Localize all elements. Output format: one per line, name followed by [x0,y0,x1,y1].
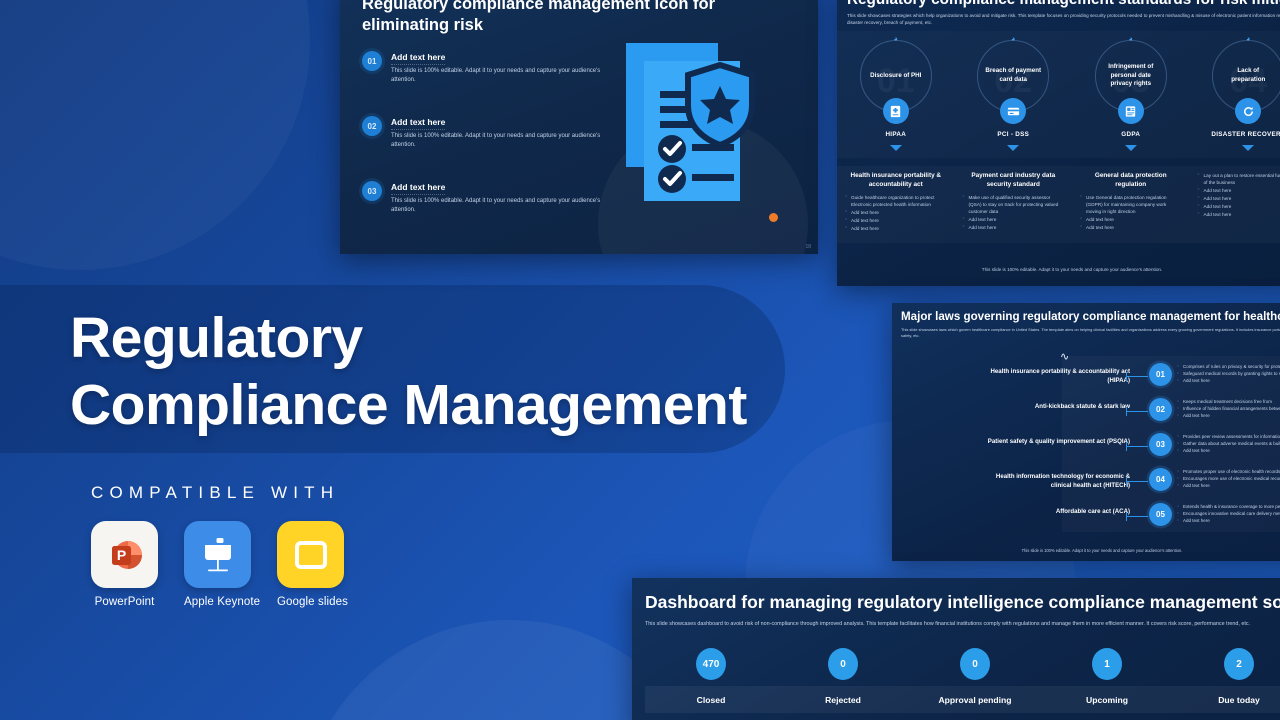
detail-bullets: Use General data protection regulation (… [1080,194,1182,231]
item-text: Add text here This slide is 100% editabl… [391,177,601,214]
slide-title: Dashboard for managing regulatory intell… [645,592,1280,613]
kpi-strip: 470 0 0 1 2 Closed Rejected Approval pen… [645,648,1280,713]
item-text: Add text here This slide is 100% editabl… [391,112,601,149]
slide-thumbnail-compliance-standards[interactable]: Regulatory compliance management standar… [837,0,1280,286]
standard-detail[interactable]: General data protection regulation Use G… [1072,166,1190,243]
slide-subtitle: This slide showcases dashboard to avoid … [645,620,1280,629]
standard-detail[interactable]: Lay out a plan to restore essential func… [1190,166,1280,243]
slide-thumbnail-compliance-icon[interactable]: Regulatory compliance management icon fo… [340,0,818,254]
table-row[interactable]: Patient safety & quality improvement act… [892,434,1280,469]
kpi-value: 470 [696,648,726,680]
law-bullets: Keeps medical treatment decisions free f… [1177,399,1280,419]
detail-bullets: Make use of qualified security assessor … [963,194,1065,231]
slide-title: Regulatory compliance management standar… [847,0,1280,9]
list-item[interactable]: 01 Add text here This slide is 100% edit… [362,47,602,112]
law-number-badge: 05 [1149,503,1172,526]
kpi-cell[interactable]: 0 [777,648,909,680]
slide-title: Regulatory compliance management icon fo… [362,0,762,37]
list-item[interactable]: 02 Add text here This slide is 100% edit… [362,112,602,177]
slide-page-number: 18 [805,244,811,250]
item-text: Add text here This slide is 100% editabl… [391,47,601,84]
bullet: Add text here [1080,224,1182,231]
page-title-line-2: Compliance Management [70,372,830,439]
law-label: Health information technology for econom… [980,473,1130,491]
slide-footnote: This slide is 100% editable. Adapt it to… [837,267,1280,272]
law-bullets: Extends health & insurance coverage to m… [1177,504,1280,524]
credit-card-icon [1000,98,1026,124]
law-bullets: Comprises of rules on privacy & security… [1177,364,1280,384]
page-title-line-1: Regulatory [70,306,363,370]
list-item[interactable]: 03 Add text here This slide is 100% edit… [362,177,602,242]
risk-label: Breach of payment card data [978,67,1048,85]
item-heading: Add text here [391,117,445,130]
standard-name: DISASTER RECOVERY [1190,131,1280,140]
kpi-cell[interactable]: 0 [909,648,1041,680]
kpi-cell[interactable]: 470 [645,648,777,680]
kpi-value: 0 [828,648,858,680]
compatible-apps-row: P PowerPoint Apple Keynote [91,521,344,608]
powerpoint-icon: P [91,521,158,588]
bullet: Add text here [1198,195,1280,202]
table-row[interactable]: Health information technology for econom… [892,469,1280,504]
slide-footnote: This slide is 100% editable. Adapt it to… [892,548,1280,553]
law-bullets: Provides peer review assessments for inf… [1177,434,1280,454]
bullet: Gather data about adverse medical events… [1177,441,1280,448]
bullet: Add text here [845,225,947,232]
bullet: Add text here [1177,448,1280,455]
bullet: Encourages more use of electronic medica… [1177,476,1280,483]
down-arrow-icon [890,145,902,151]
slide-subtitle: This slide showcases laws which govern h… [901,327,1280,340]
bullet: Use General data protection regulation (… [1080,194,1182,215]
standard-name: PCI - DSS [955,131,1073,140]
bullet: Make use of qualified security assessor … [963,194,1065,215]
law-number-badge: 02 [1149,398,1172,421]
compat-app-label: Google slides [277,596,344,608]
standard-column[interactable]: 02 ◕ Breach of payment card data PCI - D… [955,32,1073,151]
law-label: Health insurance portability & accountab… [980,368,1130,386]
law-label: Affordable care act (ACA) [980,508,1130,517]
kpi-value-row: 470 0 0 1 2 [645,648,1280,680]
medical-record-icon [883,98,909,124]
standard-column[interactable]: 04 ◕ Lack of preparation DISASTER RECOVE… [1190,32,1280,151]
law-number-badge: 03 [1149,433,1172,456]
bullet: Guide healthcare organization to protect… [845,194,947,208]
item-heading: Add text here [391,182,445,195]
standard-name: HIPAA [837,131,955,140]
risk-label: Infringement of personal date privacy ri… [1096,63,1166,90]
kpi-value: 2 [1224,648,1254,680]
kpi-label: Closed [645,695,777,705]
compat-app-google-slides[interactable]: Google slides [277,521,344,608]
risk-label: Lack of preparation [1213,67,1280,85]
down-arrow-icon [1242,145,1254,151]
laws-rows: Health insurance portability & accountab… [892,364,1280,539]
standard-name: GDPA [1072,131,1190,140]
bullet: Promotes proper use of electronic health… [1177,469,1280,476]
item-heading: Add text here [391,52,445,65]
standard-detail[interactable]: Health insurance portability & accountab… [837,166,955,243]
bullet: Provides peer review assessments for inf… [1177,434,1280,441]
bullet: Influence of hidden financial arrangemen… [1177,406,1280,413]
kpi-label: Upcoming [1041,695,1173,705]
keynote-icon [184,521,251,588]
bullet: Add text here [1198,203,1280,210]
connector-line [1126,411,1148,412]
compat-app-label: Apple Keynote [184,596,251,608]
kpi-label-row: Closed Rejected Approval pending Upcomin… [645,686,1280,713]
connector-line [1126,376,1148,377]
item-body: This slide is 100% editable. Adapt it to… [391,197,601,214]
bullet: Comprises of rules on privacy & security… [1177,364,1280,371]
signal-icon: ◕ [894,36,898,43]
table-row[interactable]: Health insurance portability & accountab… [892,364,1280,399]
standards-detail-row: Health insurance portability & accountab… [837,166,1280,243]
item-body: This slide is 100% editable. Adapt it to… [391,67,601,84]
law-number-badge: 01 [1149,363,1172,386]
table-row[interactable]: Affordable care act (ACA) 05 Extends hea… [892,504,1280,539]
down-arrow-icon [1125,145,1137,151]
heartbeat-icon: ∿ [1060,350,1069,363]
slide-thumbnail-major-laws[interactable]: Major laws governing regulatory complian… [892,303,1280,561]
compat-app-powerpoint[interactable]: P PowerPoint [91,521,158,608]
signal-icon: ◕ [1011,36,1015,43]
bullet: Encourages innovative medical care deliv… [1177,511,1280,518]
risk-label: Disclosure of PHI [863,72,928,81]
connector-line [1126,516,1148,517]
kpi-label: Due today [1173,695,1280,705]
decorative-dot [769,213,778,222]
detail-bullets: Lay out a plan to restore essential func… [1198,172,1280,218]
presentation-preview-canvas: Regulatory Compliance Management COMPATI… [0,0,1280,720]
bullet: Add text here [1177,483,1280,490]
slide-title: Major laws governing regulatory complian… [901,310,1280,323]
svg-text:P: P [116,547,125,563]
bullet: Add text here [963,216,1065,223]
item-body: This slide is 100% editable. Adapt it to… [391,132,601,149]
connector-line [1126,481,1148,482]
decorative-circle-top-left [0,0,310,270]
item-number: 03 [362,181,382,201]
bullet: Add text here [963,224,1065,231]
detail-heading: Payment card industry data security stan… [963,172,1065,190]
signal-icon: ◕ [1129,36,1133,43]
compat-app-label: PowerPoint [91,596,158,608]
item-number: 02 [362,116,382,136]
slide-subtitle: This slide showcases strategies which he… [847,12,1280,27]
detail-heading: General data protection regulation [1080,172,1182,190]
bullet: Add text here [1177,413,1280,420]
law-label: Patient safety & quality improvement act… [980,438,1130,447]
down-arrow-icon [1007,145,1019,151]
bullet: Add text here [1198,187,1280,194]
recovery-icon [1235,98,1261,124]
bullet: Add text here [845,209,947,216]
law-bullets: Promotes proper use of electronic health… [1177,469,1280,489]
table-row[interactable]: Anti-kickback statute & stark law 02 Kee… [892,399,1280,434]
privacy-document-icon [1118,98,1144,124]
detail-heading: Health insurance portability & accountab… [845,172,947,190]
law-number-badge: 04 [1149,468,1172,491]
page-title: Regulatory Compliance Management [70,305,830,438]
kpi-label: Approval pending [909,695,1041,705]
standard-column[interactable]: 03 ◕ Infringement of personal date priva… [1072,32,1190,151]
standard-detail[interactable]: Payment card industry data security stan… [955,166,1073,243]
bullet: Add text here [1177,518,1280,525]
compatible-with-label: COMPATIBLE WITH [91,483,339,503]
slide-bullet-list: 01 Add text here This slide is 100% edit… [362,47,602,242]
kpi-cell[interactable]: 2 [1173,648,1280,680]
bullet: Add text here [1198,211,1280,218]
bullet: Add text here [1080,216,1182,223]
law-label: Anti-kickback statute & stark law [980,403,1130,412]
compat-app-keynote[interactable]: Apple Keynote [184,521,251,608]
bullet: Safeguard medical records by granting ri… [1177,371,1280,378]
connector-line [1126,446,1148,447]
kpi-value: 0 [960,648,990,680]
bullet: Lay out a plan to restore essential func… [1198,172,1280,186]
signal-icon: ◕ [1246,36,1250,43]
bullet: Add text here [845,217,947,224]
item-number: 01 [362,51,382,71]
bullet: Add text here [1177,378,1280,385]
slide-thumbnail-dashboard[interactable]: Dashboard for managing regulatory intell… [632,578,1280,720]
detail-bullets: Guide healthcare organization to protect… [845,194,947,232]
document-shield-icon [620,39,790,214]
standard-column[interactable]: 01 ◕ Disclosure of PHI HIPAA [837,32,955,151]
google-slides-icon [277,521,344,588]
bullet: Keeps medical treatment decisions free f… [1177,399,1280,406]
standards-columns: 01 ◕ Disclosure of PHI HIPAA 02 ◕ Breach… [837,32,1280,151]
kpi-label: Rejected [777,695,909,705]
bullet: Extends health & insurance coverage to m… [1177,504,1280,511]
kpi-cell[interactable]: 1 [1041,648,1173,680]
kpi-value: 1 [1092,648,1122,680]
